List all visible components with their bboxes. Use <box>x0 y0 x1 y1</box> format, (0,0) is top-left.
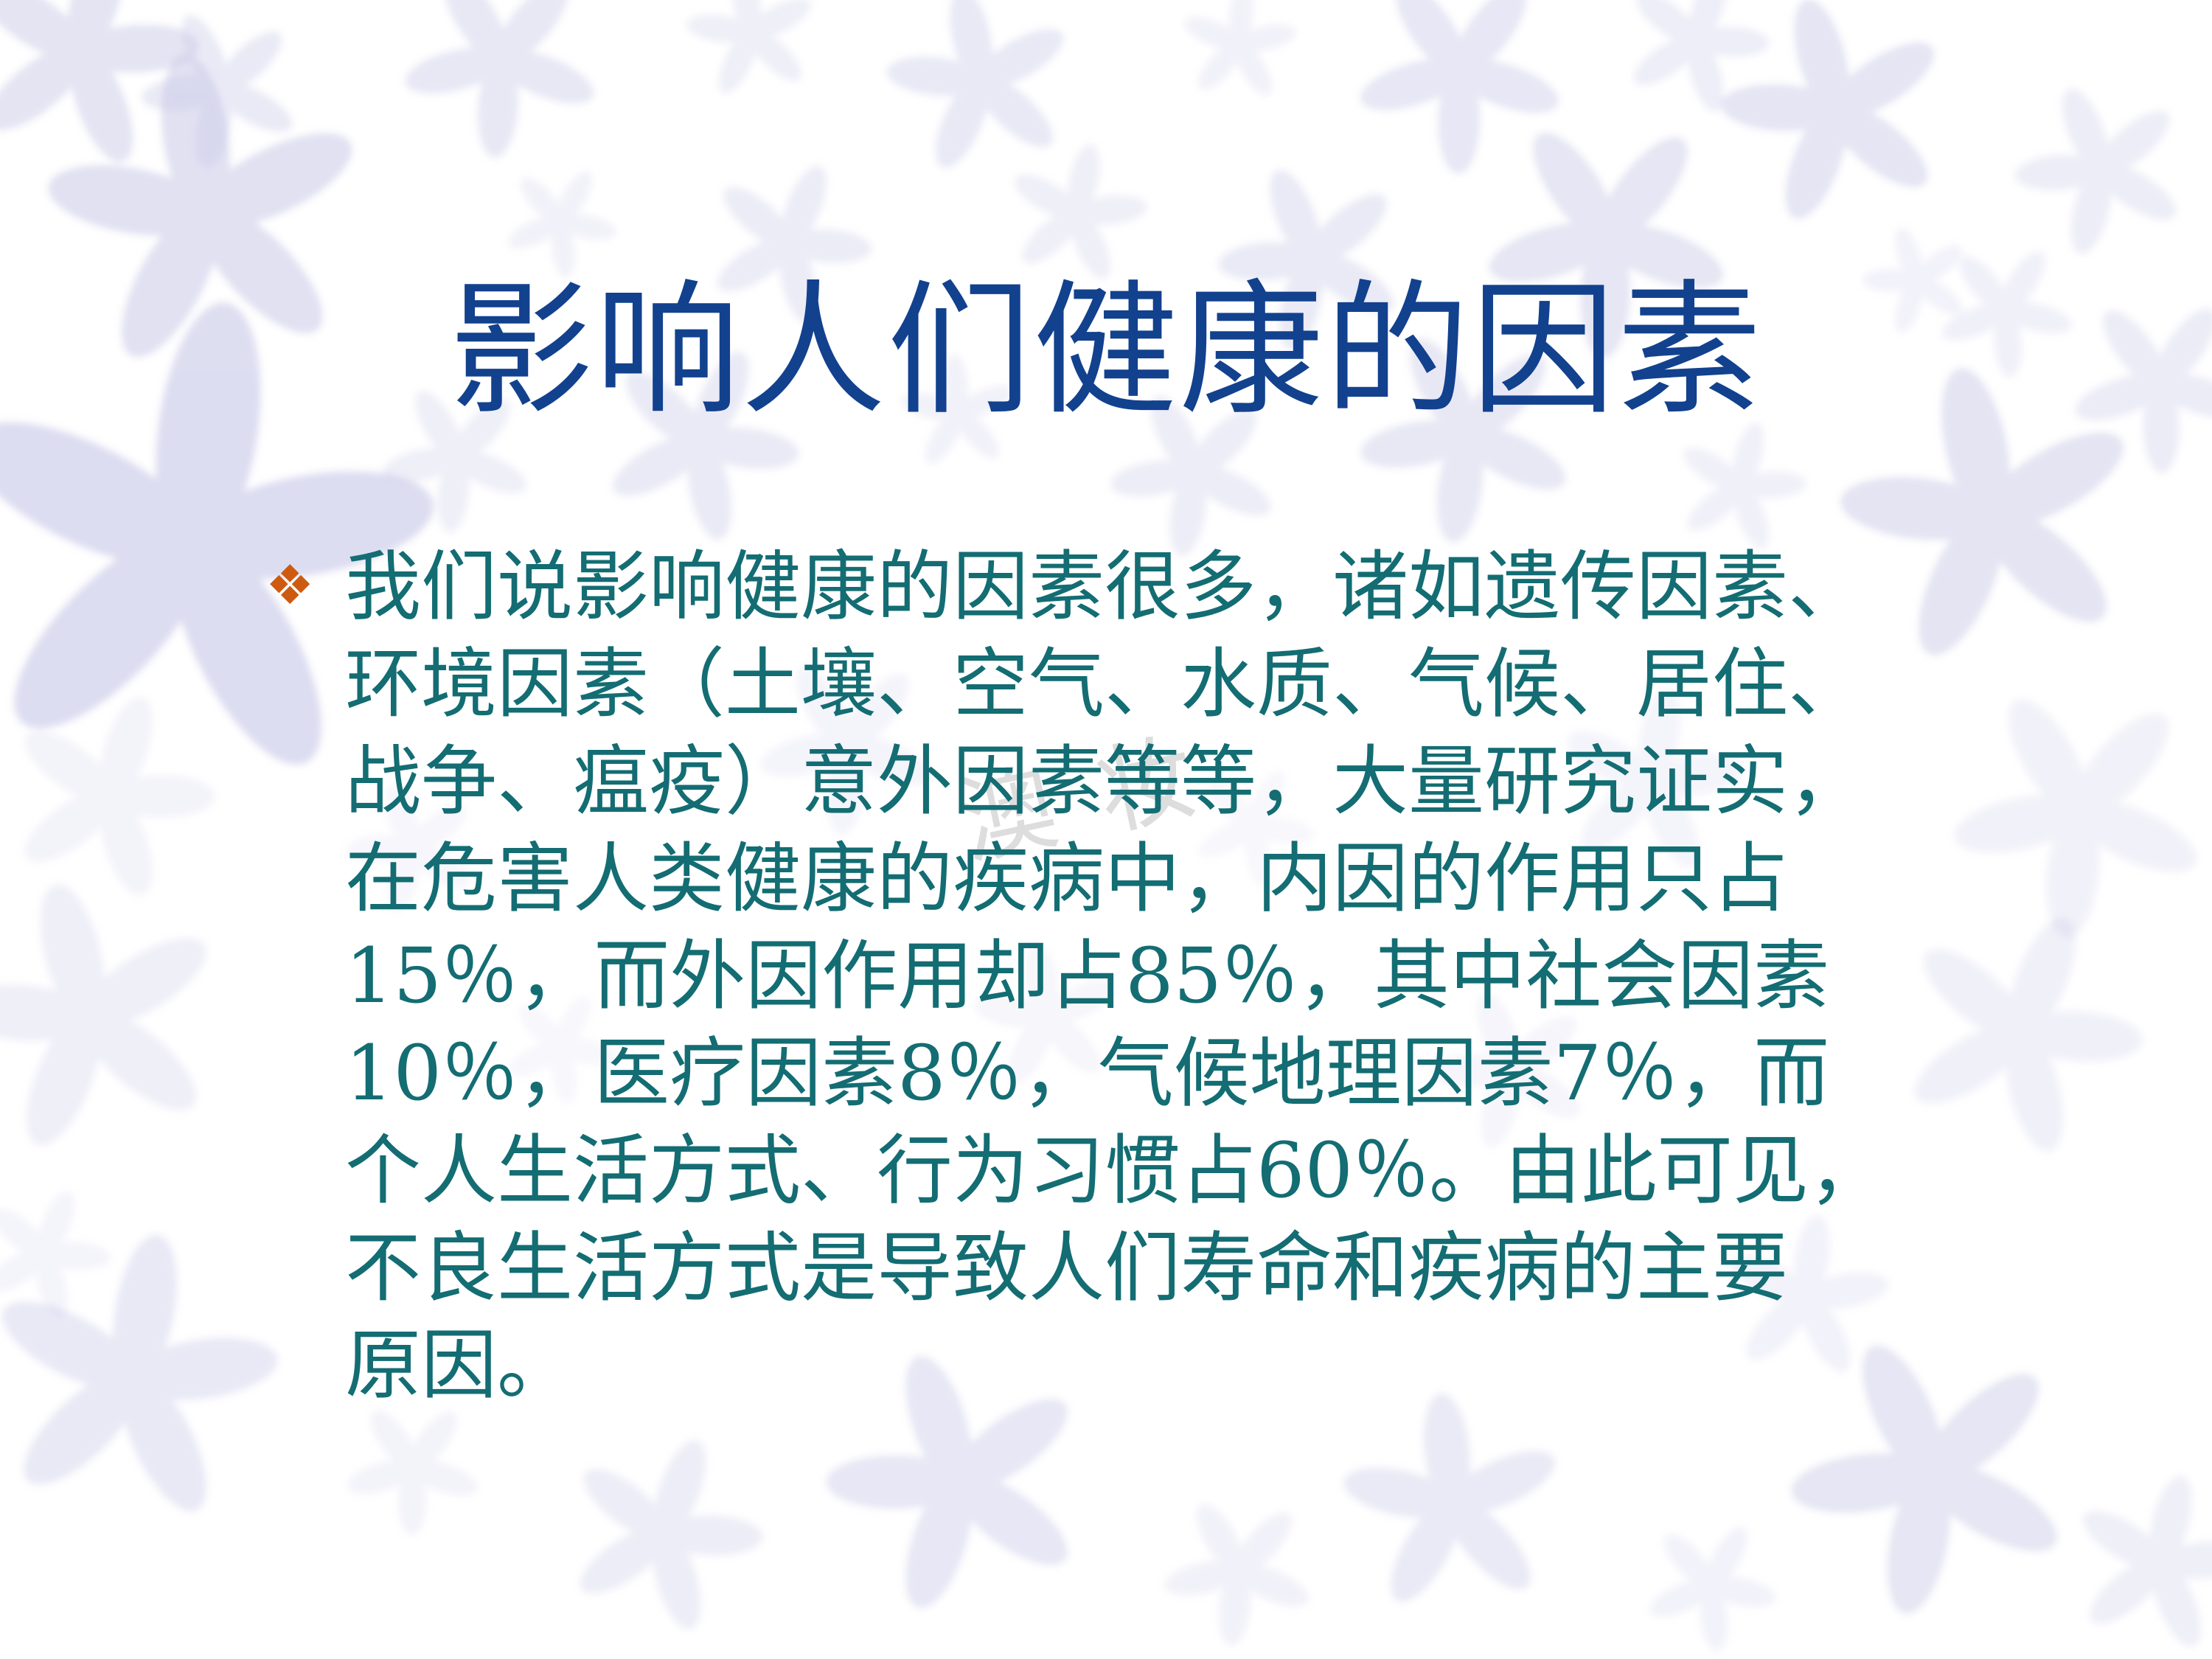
body-line: 10％，医疗因素8％，气候地理因素7％，而 <box>345 1025 2124 1122</box>
body-line: 15％，而外因作用却占85％，其中社会因素 <box>345 928 2124 1025</box>
body-line: 原因。 <box>345 1317 2124 1414</box>
body-placeholder: ❖ 我们说影响健康的因素很多，诸如遗传因素、 环境因素（土壤、空气、水质、气候、… <box>265 538 2124 1414</box>
title-placeholder: 影响人们健康的因素 <box>0 177 2212 526</box>
body-line: 在危害人类健康的疾病中，内因的作用只占 <box>345 830 2124 928</box>
body-line: 环境因素（土壤、空气、水质、气候、居住、 <box>345 636 2124 733</box>
body-line: 我们说影响健康的因素很多，诸如遗传因素、 <box>345 538 2124 636</box>
body-line: 不良生活方式是导致人们寿命和疾病的主要 <box>345 1220 2124 1317</box>
body-paragraph: 我们说影响健康的因素很多，诸如遗传因素、 环境因素（土壤、空气、水质、气候、居住… <box>345 538 2124 1414</box>
body-line: 个人生活方式、行为习惯占60％。由此可见， <box>345 1122 2124 1220</box>
presentation-slide: 澳 妆 影响人们健康的因素 ❖ 我们说影响健康的因素很多，诸如遗传因素、 环境因… <box>0 0 2212 1659</box>
diamond-cluster-bullet-icon: ❖ <box>265 538 345 633</box>
page-title: 影响人们健康的因素 <box>449 274 1763 430</box>
body-line: 战争、瘟疫）意外因素等等，大量研究证实， <box>345 733 2124 830</box>
